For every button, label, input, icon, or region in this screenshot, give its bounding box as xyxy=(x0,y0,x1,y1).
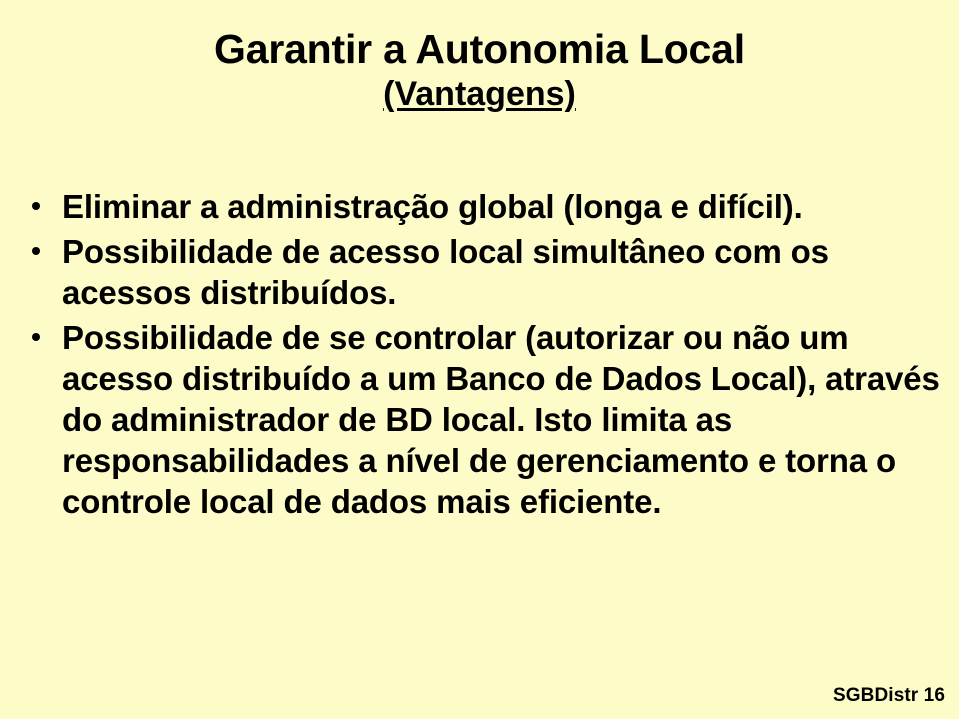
list-item: Possibilidade de acesso local simultâneo… xyxy=(24,231,940,313)
page-subtitle-text: (Vantagens) xyxy=(383,75,576,113)
list-item-text: Eliminar a administração global (longa e… xyxy=(62,188,803,225)
page-title: Garantir a Autonomia Local xyxy=(0,26,959,73)
page-subtitle: (Vantagens) xyxy=(0,74,959,115)
bullet-dot-icon xyxy=(32,333,40,341)
list-item-text: Possibilidade de acesso local simultâneo… xyxy=(62,233,829,311)
title-block: Garantir a Autonomia Local (Vantagens) xyxy=(0,26,959,115)
list-item-text: Possibilidade de se controlar (autorizar… xyxy=(62,319,940,520)
list-item: Possibilidade de se controlar (autorizar… xyxy=(24,317,940,522)
bullet-list: Eliminar a administração global (longa e… xyxy=(24,186,940,526)
slide-footer: SGBDistr 16 xyxy=(833,685,945,707)
slide-canvas: Garantir a Autonomia Local (Vantagens) E… xyxy=(0,0,959,719)
bullet-dot-icon xyxy=(32,247,40,255)
bullet-dot-icon xyxy=(32,202,40,210)
list-item: Eliminar a administração global (longa e… xyxy=(24,186,940,227)
